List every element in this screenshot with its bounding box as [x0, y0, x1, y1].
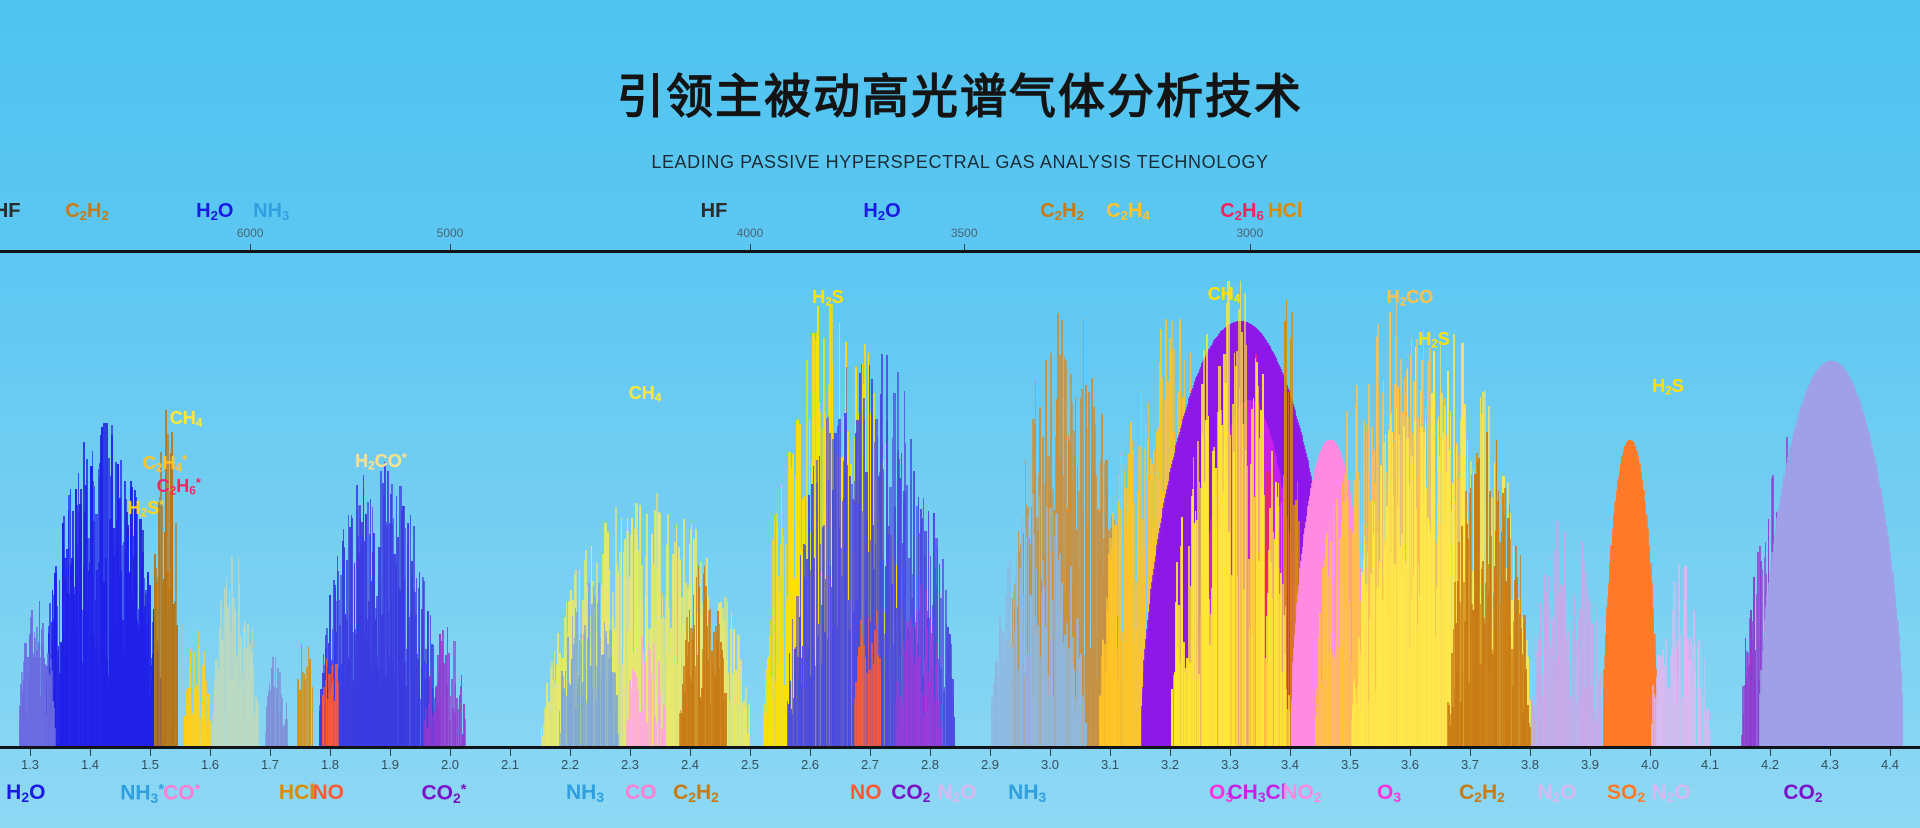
bottom-tick-label: 4.2 [1761, 757, 1779, 772]
top-tick-label: 3500 [951, 226, 978, 240]
spectral-line [664, 708, 666, 746]
spectral-line [617, 734, 619, 746]
bottom-gas-label-co2: CO2 [1783, 781, 1822, 805]
bottom-gas-label-no2: NO2 [1282, 781, 1321, 805]
spectral-line [953, 717, 955, 746]
bottom-gas-label-co2: CO2 [891, 781, 930, 805]
bottom-gas-label-ch3cl: CH3Cl [1227, 781, 1286, 805]
bottom-gas-label-n2o: N2O [1537, 781, 1576, 805]
bottom-tick-label: 2.4 [681, 757, 699, 772]
top-gas-label-hf: HF [701, 200, 728, 223]
inplot-gas-label-ch4: CH4 [629, 383, 662, 405]
bottom-tick-mark [1590, 749, 1591, 756]
bottom-tick-mark [330, 749, 331, 756]
bottom-tick-mark [1350, 749, 1351, 756]
bottom-tick-mark [570, 749, 571, 756]
bottom-tick-mark [810, 749, 811, 756]
bottom-tick-mark [510, 749, 511, 756]
inplot-gas-label-ch4: CH4 [1208, 284, 1241, 306]
bottom-tick-mark [750, 749, 751, 756]
bottom-tick-label: 3.0 [1041, 757, 1059, 772]
spectral-line [53, 728, 56, 746]
bottom-tick-mark [390, 749, 391, 756]
top-gas-label-c2h6: C2H6 [1220, 200, 1264, 223]
bottom-gas-label-no: NO [312, 781, 344, 805]
bottom-tick-label: 1.7 [261, 757, 279, 772]
bottom-tick-mark [690, 749, 691, 756]
bottom-tick-label: 1.6 [201, 757, 219, 772]
bottom-tick-mark [1470, 749, 1471, 756]
page-header: 引领主被动高光谱气体分析技术 LEADING PASSIVE HYPERSPEC… [0, 0, 1920, 200]
bottom-gas-label-nh3: NH3* [120, 781, 164, 806]
bottom-gas-label-n2o: N2O [937, 781, 976, 805]
spectral-line [176, 625, 178, 746]
bottom-tick-mark [30, 749, 31, 756]
bottom-tick-label: 1.8 [321, 757, 339, 772]
bottom-gas-label-n2o: N2O [1651, 781, 1690, 805]
bottom-tick-label: 3.3 [1221, 757, 1239, 772]
bottom-tick-mark [210, 749, 211, 756]
inplot-gas-label-c2h4: C2H4* [143, 452, 187, 475]
bottom-tick-mark [1290, 749, 1291, 756]
bottom-tick-label: 2.8 [921, 757, 939, 772]
bottom-tick-label: 2.7 [861, 757, 879, 772]
bottom-tick-label: 3.8 [1521, 757, 1539, 772]
top-gas-label-h2o: H2O [863, 200, 900, 223]
spectral-line [312, 687, 313, 746]
inplot-gas-label-c2h6: C2H6* [157, 475, 201, 498]
spectral-line [880, 674, 881, 746]
top-tick-label: 5000 [437, 226, 464, 240]
bottom-tick-mark [1170, 749, 1171, 756]
top-gas-label-hcl: HCl [1268, 200, 1302, 223]
bottom-tick-label: 3.5 [1341, 757, 1359, 772]
bottom-tick-mark [150, 749, 151, 756]
top-gas-label-h2o: H2O [196, 200, 233, 223]
page-title: 引领主被动高光谱气体分析技术 [0, 58, 1920, 127]
bottom-tick-mark [1770, 749, 1771, 756]
bottom-tick-mark [90, 749, 91, 756]
bottom-tick-mark [870, 749, 871, 756]
bottom-tick-mark [1230, 749, 1231, 756]
plot-area: CH4C2H4*C2H6*H2S*H2CO*CH4H2SCH4H2COH2SH2… [0, 252, 1920, 746]
inplot-gas-label-h2co: H2CO [1387, 287, 1434, 309]
bottom-gas-label-no: NO [850, 781, 882, 805]
spectral-band-fill [1900, 698, 1903, 747]
bottom-tick-mark [450, 749, 451, 756]
bottom-tick-label: 3.1 [1101, 757, 1119, 772]
bottom-gas-label-o3: O3 [1377, 781, 1401, 805]
top-tick-label: 4000 [737, 226, 764, 240]
bottom-tick-label: 3.9 [1581, 757, 1599, 772]
bottom-tick-mark [1830, 749, 1831, 756]
bottom-tick-label: 2.1 [501, 757, 519, 772]
inplot-gas-label-h2co: H2CO* [355, 450, 407, 473]
bottom-gas-label-so2: SO2 [1607, 781, 1645, 805]
top-gas-label-c2h2: C2H2 [65, 200, 109, 223]
bottom-tick-label: 1.3 [21, 757, 39, 772]
page-subtitle: LEADING PASSIVE HYPERSPECTRAL GAS ANALYS… [0, 152, 1920, 173]
bottom-tick-label: 4.4 [1881, 757, 1899, 772]
spectral-line [464, 719, 467, 746]
bottom-axis: 1.31.41.51.61.71.81.92.02.12.22.32.42.52… [0, 749, 1920, 828]
bottom-tick-label: 3.6 [1401, 757, 1419, 772]
bottom-tick-mark [1050, 749, 1051, 756]
bottom-gas-label-co2: CO2* [421, 781, 466, 806]
inplot-gas-label-h2s: H2S [1652, 376, 1684, 398]
bottom-gas-label-co: CO* [163, 781, 200, 806]
bottom-tick-mark [1710, 749, 1711, 756]
spectral-chart: HFC2H2H2ONH3HFH2OC2H2C2H4C2H6HCl 6000500… [0, 200, 1920, 828]
top-gas-label-nh3: NH3 [253, 200, 289, 223]
bottom-tick-mark [990, 749, 991, 756]
spectral-line [1085, 723, 1087, 746]
bottom-tick-mark [1650, 749, 1651, 756]
bottom-tick-label: 2.9 [981, 757, 999, 772]
bottom-tick-label: 4.1 [1701, 757, 1719, 772]
top-tick-label: 6000 [237, 226, 264, 240]
bottom-tick-label: 1.4 [81, 757, 99, 772]
inplot-gas-label-ch4: CH4 [170, 408, 203, 430]
spectral-line [725, 729, 726, 746]
bottom-tick-mark [930, 749, 931, 756]
bottom-tick-label: 2.2 [561, 757, 579, 772]
bottom-tick-label: 2.3 [621, 757, 639, 772]
bottom-tick-mark [270, 749, 271, 756]
bottom-gas-label-nh3: NH3 [566, 781, 604, 805]
spectral-line [1289, 711, 1290, 746]
bottom-gas-label-c2h2: C2H2 [673, 781, 719, 805]
bottom-tick-mark [1410, 749, 1411, 756]
spectral-line [257, 704, 259, 746]
spectral-line [1709, 730, 1712, 746]
bottom-tick-label: 4.3 [1821, 757, 1839, 772]
top-tick-label: 3000 [1236, 226, 1263, 240]
bottom-tick-mark [1890, 749, 1891, 756]
inplot-gas-label-h2s: H2S [1418, 329, 1450, 351]
bottom-tick-label: 2.6 [801, 757, 819, 772]
top-gas-label-hf: HF [0, 200, 21, 223]
bottom-gas-label-h2o: H2O [6, 781, 45, 805]
bottom-tick-label: 2.0 [441, 757, 459, 772]
top-gas-label-c2h4: C2H4 [1106, 200, 1150, 223]
bottom-tick-label: 3.4 [1281, 757, 1299, 772]
bottom-gas-label-co: CO [625, 781, 657, 805]
inplot-gas-label-h2s: H2S [812, 287, 844, 309]
bottom-tick-label: 2.5 [741, 757, 759, 772]
bottom-tick-mark [1110, 749, 1111, 756]
bottom-tick-label: 4.0 [1641, 757, 1659, 772]
spectral-line [338, 682, 339, 746]
spectral-line [287, 719, 288, 746]
bottom-gas-label-hcl: HCl [279, 781, 315, 805]
bottom-tick-label: 1.9 [381, 757, 399, 772]
bottom-tick-label: 1.5 [141, 757, 159, 772]
bottom-tick-mark [630, 749, 631, 756]
bottom-tick-mark [1530, 749, 1531, 756]
bottom-tick-label: 3.7 [1461, 757, 1479, 772]
spectral-line [749, 724, 750, 746]
top-gas-label-c2h2: C2H2 [1040, 200, 1084, 223]
inplot-gas-label-h2s: H2S* [127, 497, 164, 520]
bottom-tick-label: 3.2 [1161, 757, 1179, 772]
bottom-gas-label-nh3: NH3 [1008, 781, 1046, 805]
spectral-line [941, 703, 942, 746]
bottom-gas-label-c2h2: C2H2 [1459, 781, 1505, 805]
